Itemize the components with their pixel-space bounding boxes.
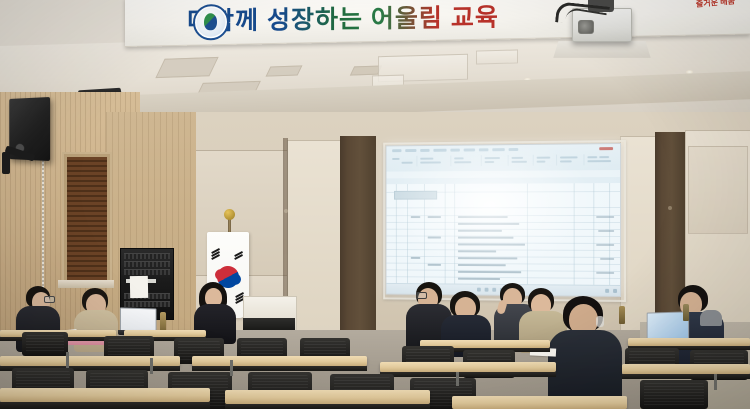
blind-cord[interactable]	[42, 150, 44, 300]
thermos-bottle-center[interactable]	[683, 304, 689, 321]
stacking-chair-16[interactable]	[640, 380, 708, 409]
beige-wall-panel-6	[688, 146, 748, 234]
window-sill	[58, 280, 114, 288]
desk-edge-r3-b	[225, 404, 430, 409]
banner-side-line-2: 즐거운 배움	[696, 0, 736, 9]
glasses-icon	[416, 292, 427, 299]
training-desk-r3-a	[0, 388, 210, 402]
recessed-light-panel-3	[476, 49, 518, 64]
flag-finial-icon	[224, 209, 235, 220]
banner-side-slogan: 행복한 학교 즐거운 배움	[685, 0, 748, 35]
projection-screen[interactable]	[386, 143, 621, 297]
hoodie-hood	[700, 310, 722, 326]
posted-notice-paper	[130, 276, 148, 298]
conference-room-photo: 다함께 성장하는 어울림 교육 행복한 학교 즐거운 배움	[0, 0, 750, 409]
desk-edge-r2-d	[622, 374, 750, 379]
banner-title-text: 다함께 성장하는 어울림 교육	[187, 0, 499, 38]
training-desk-r2-a	[0, 356, 180, 366]
chair-leg-2	[150, 358, 153, 374]
ceiling-vent-3	[266, 65, 303, 76]
desk-edge-r2-c	[380, 372, 556, 377]
desk-edge-r2-b	[192, 366, 367, 371]
chair-leg-3	[230, 360, 233, 376]
training-desk-r2-c	[380, 362, 556, 372]
chair-leg-1	[66, 352, 69, 368]
selected-header-cell[interactable]	[394, 191, 437, 200]
face-mask-icon	[596, 316, 604, 327]
projector-shade	[553, 41, 650, 58]
spreadsheet-ribbon	[387, 144, 620, 173]
ceiling-vent-1	[155, 57, 218, 78]
glasses-icon	[44, 296, 55, 303]
stacking-chair-1[interactable]	[22, 332, 68, 356]
window-with-blinds	[62, 152, 112, 286]
speaker-bracket-post	[2, 152, 10, 174]
thermos-bottle-right[interactable]	[619, 306, 625, 324]
training-desk-r1-d	[628, 338, 750, 346]
dark-wood-column-center	[340, 136, 376, 336]
chair-leg-4	[456, 372, 459, 386]
training-desk-r3-c	[452, 396, 627, 409]
training-desk-r3-b	[225, 390, 430, 404]
window-blinds[interactable]	[67, 157, 107, 281]
training-desk-r2-d	[622, 364, 750, 374]
podium-base	[243, 318, 295, 330]
chair-leg-5	[714, 374, 717, 390]
training-desk-r2-b	[192, 356, 367, 366]
thermos-bottle-left[interactable]	[160, 312, 166, 332]
desk-edge-r3-a	[0, 402, 210, 409]
